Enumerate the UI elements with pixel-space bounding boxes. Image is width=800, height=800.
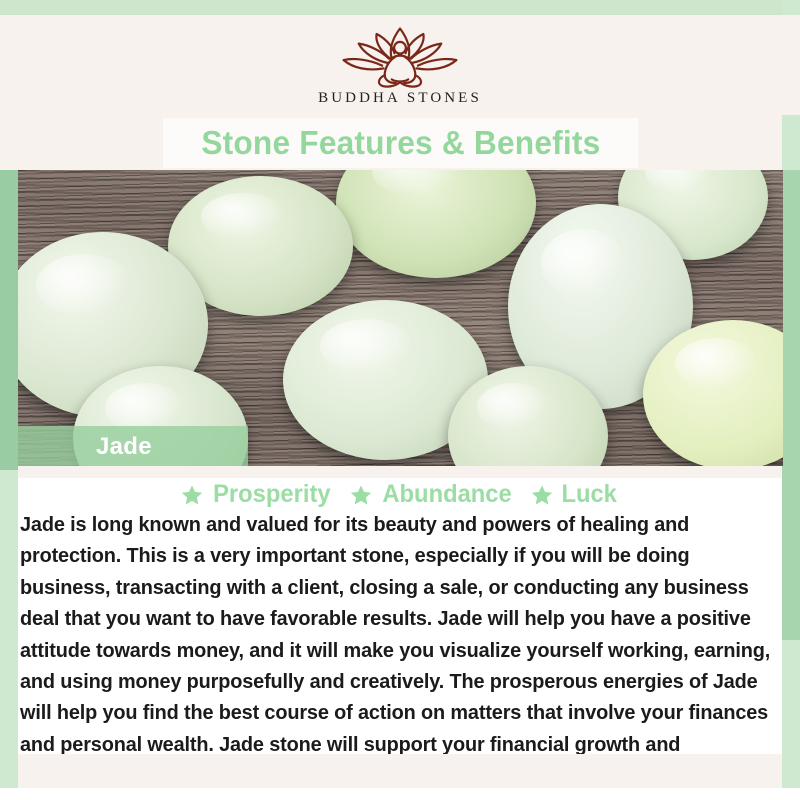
content-panel: Prosperity Abundance Luck Jade bbox=[18, 466, 782, 788]
title-band: Stone Features & Benefits bbox=[163, 118, 638, 168]
page-title: Stone Features & Benefits bbox=[201, 124, 600, 162]
benefit-item: Abundance bbox=[350, 480, 515, 509]
star-icon bbox=[181, 484, 203, 506]
frame-top-accent bbox=[0, 0, 800, 15]
benefit-label: Abundance bbox=[382, 480, 511, 509]
star-icon bbox=[350, 484, 372, 506]
stone-name-band: Jade bbox=[18, 426, 248, 468]
lotus-meditation-icon bbox=[330, 23, 470, 89]
poster-root: BUDDHA STONES Stone Features & Benefits … bbox=[0, 0, 800, 800]
benefit-item: Luck bbox=[531, 480, 618, 509]
stone-name: Jade bbox=[96, 433, 152, 461]
star-icon bbox=[531, 484, 553, 506]
content-top-spacer bbox=[18, 466, 782, 478]
stone-photo bbox=[18, 170, 783, 466]
brand-header: BUDDHA STONES bbox=[0, 15, 800, 115]
brand-name: BUDDHA STONES bbox=[318, 90, 482, 107]
benefits-row: Prosperity Abundance Luck bbox=[18, 480, 782, 509]
frame-right-accent-dark bbox=[782, 170, 800, 640]
content-bottom-spacer bbox=[18, 754, 782, 788]
frame-bottom-spacer bbox=[0, 788, 800, 800]
benefit-label: Luck bbox=[562, 480, 617, 509]
benefit-item: Prosperity bbox=[181, 480, 334, 509]
frame-left-accent-dark bbox=[0, 170, 18, 470]
benefit-label: Prosperity bbox=[214, 480, 331, 509]
